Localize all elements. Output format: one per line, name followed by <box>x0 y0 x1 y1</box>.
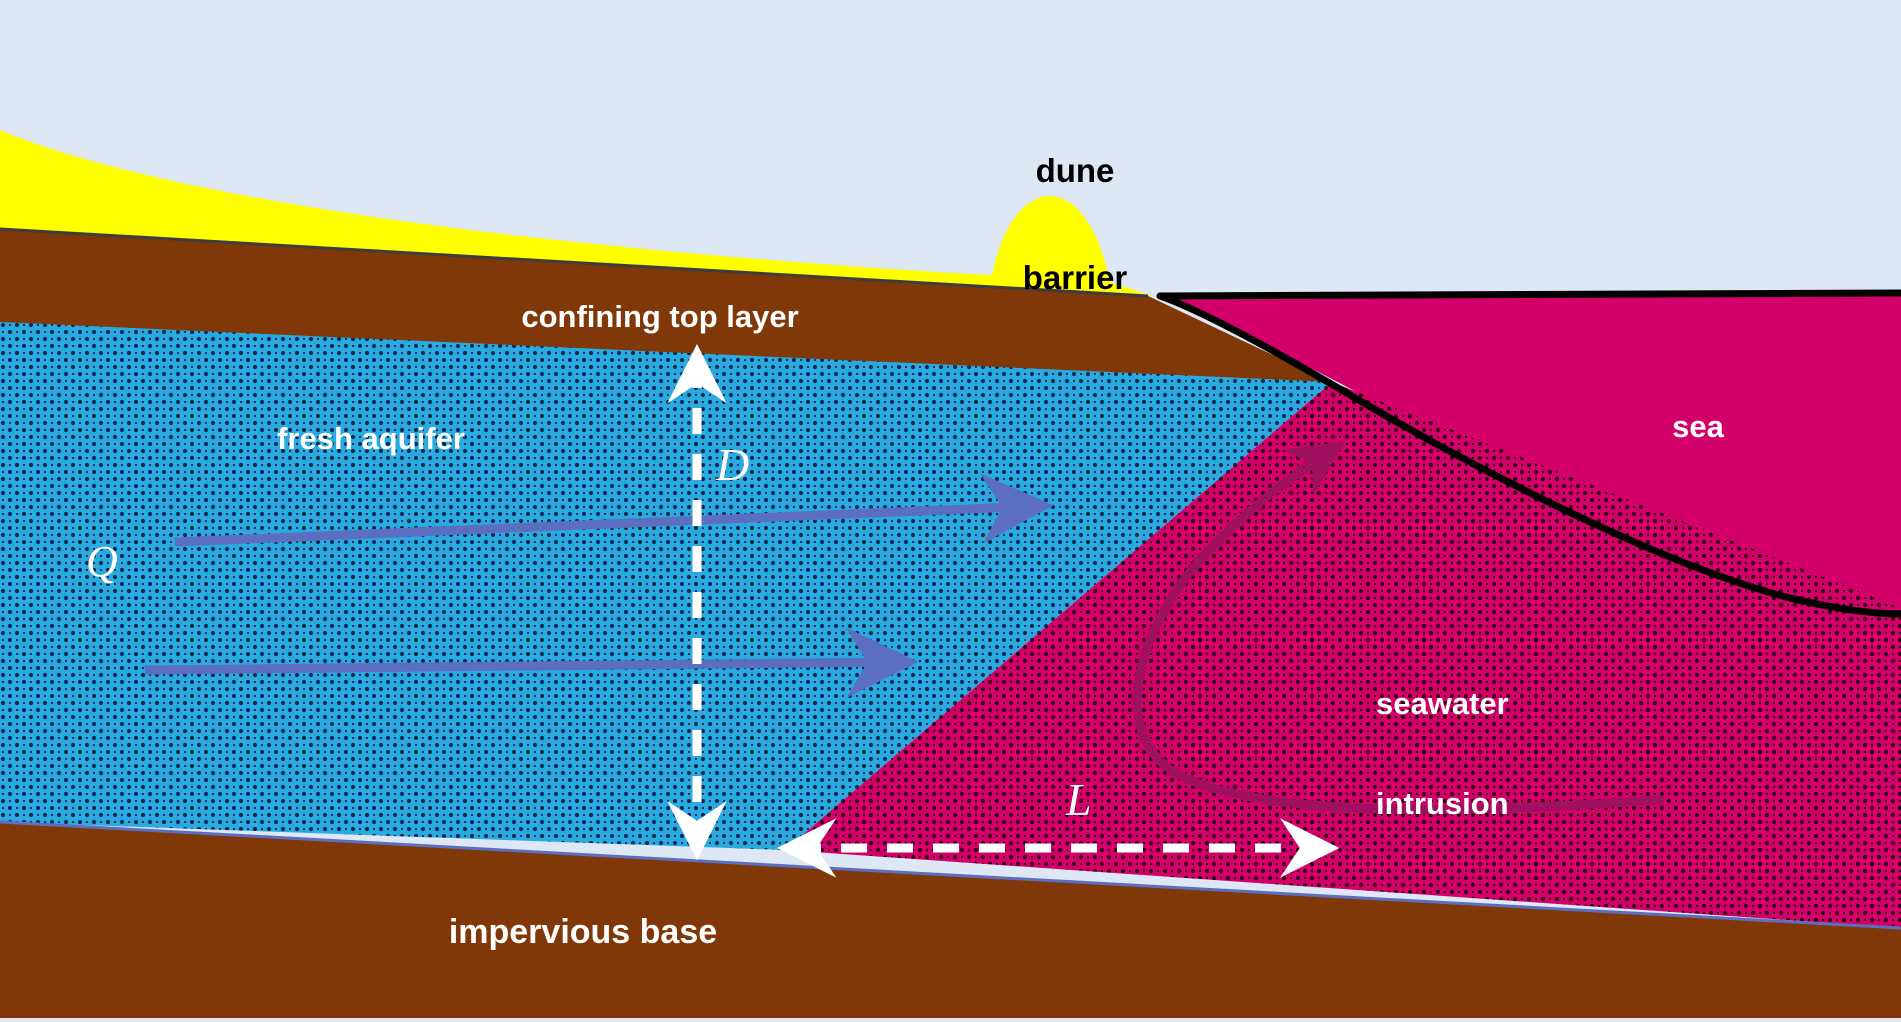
cross-section-graphic <box>0 0 1901 1022</box>
diagram-canvas: dune barrier confining top layer fresh a… <box>0 0 1901 1022</box>
